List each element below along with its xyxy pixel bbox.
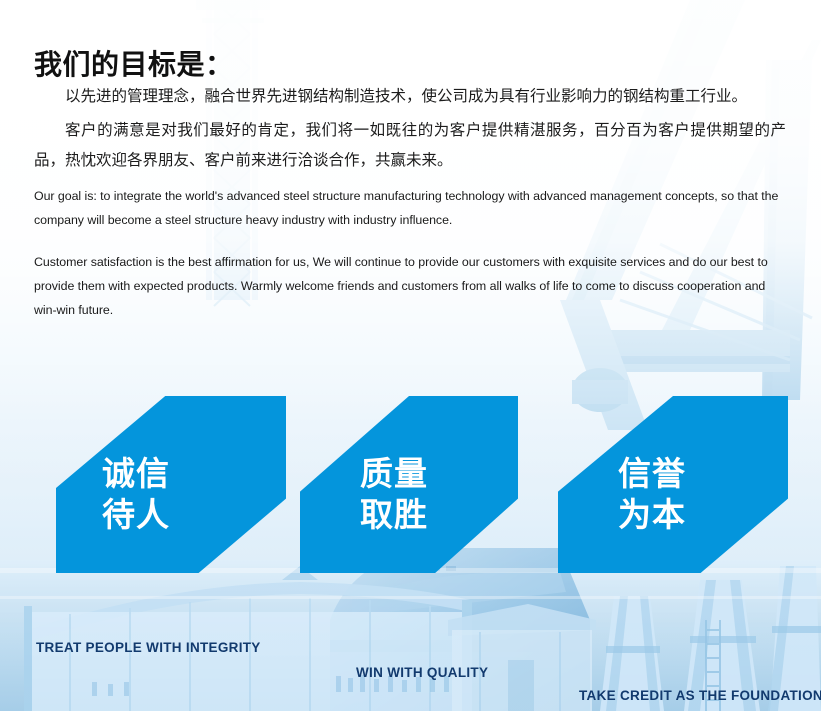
caption-win-with-quality: WIN WITH QUALITY xyxy=(356,665,488,680)
value-banner-quality[interactable]: 质量 取胜 xyxy=(300,396,518,573)
english-paragraph-1: Our goal is: to integrate the world's ad… xyxy=(34,184,782,232)
value-banner-credit[interactable]: 信誉 为本 xyxy=(558,396,788,573)
caption-treat-people-with-integrity: TREAT PEOPLE WITH INTEGRITY xyxy=(36,640,261,655)
banner-label-credit: 信誉 为本 xyxy=(618,453,686,535)
page-root: 我们的目标是： 以先进的管理理念，融合世界先进钢结构制造技术，使公司成为具有行业… xyxy=(0,0,821,711)
caption-take-credit-as-the-foundation: TAKE CREDIT AS THE FOUNDATION xyxy=(579,688,821,703)
chinese-paragraph-2: 客户的满意是对我们最好的肯定，我们将一如既往的为客户提供精湛服务，百分百为客户提… xyxy=(34,116,786,176)
banner-label-integrity: 诚信 待人 xyxy=(102,453,170,535)
banner-hexagon-shape xyxy=(56,396,286,573)
chinese-paragraph-1: 以先进的管理理念，融合世界先进钢结构制造技术，使公司成为具有行业影响力的钢结构重… xyxy=(34,82,786,112)
english-paragraph-2: Customer satisfaction is the best affirm… xyxy=(34,250,782,322)
page-title: 我们的目标是： xyxy=(34,43,234,83)
value-banner-integrity[interactable]: 诚信 待人 xyxy=(56,396,286,573)
banner-label-quality: 质量 取胜 xyxy=(360,453,428,535)
